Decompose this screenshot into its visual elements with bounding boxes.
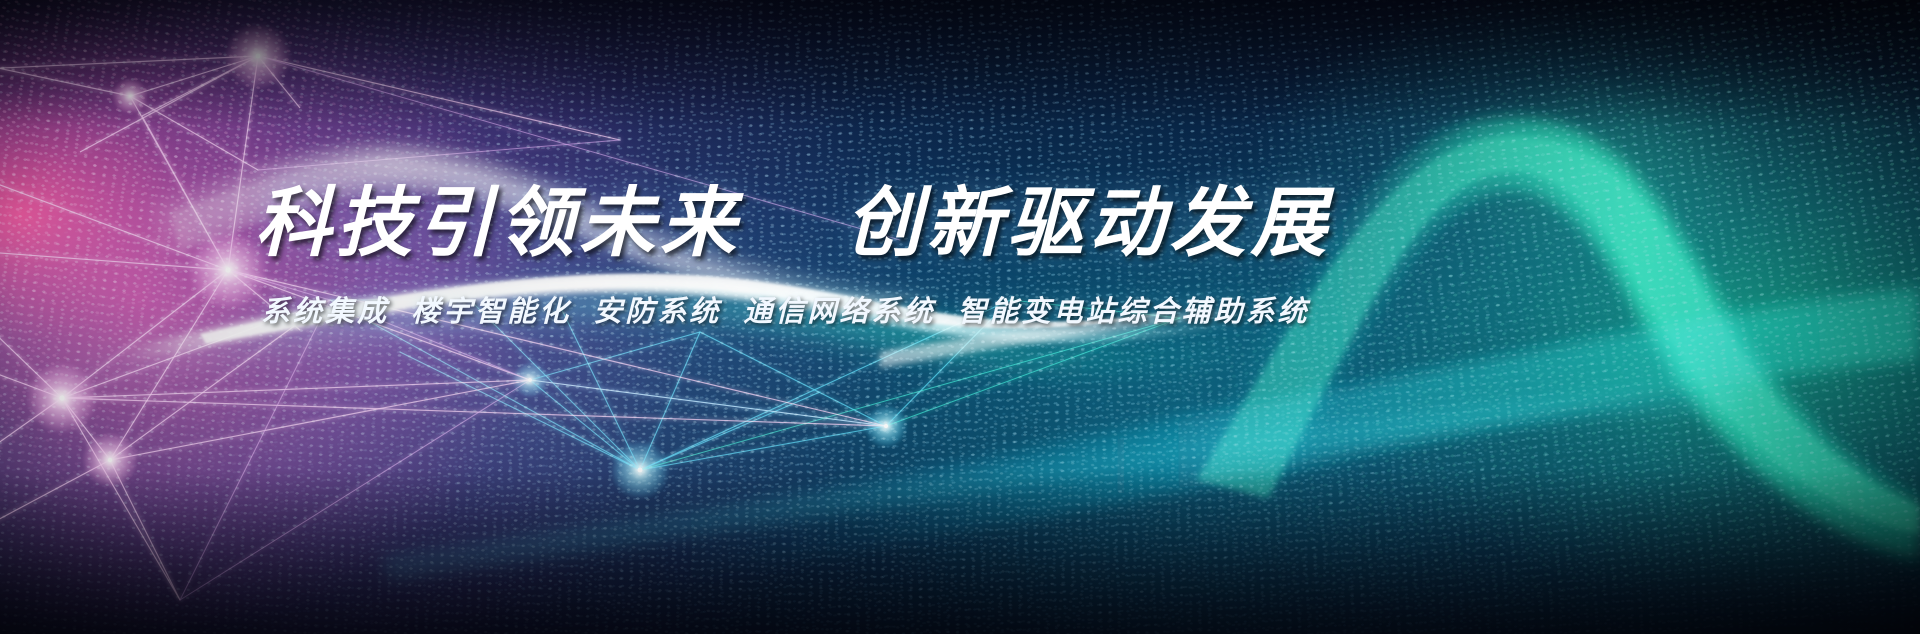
page-title: 科技引领未来 创新驱动发展 — [255, 186, 1655, 262]
hero-text-block: 科技引领未来 创新驱动发展 系统集成 楼宇智能化 安防系统 通信网络系统 智能变… — [255, 186, 1655, 330]
technology-hero-banner: 科技引领未来 创新驱动发展 系统集成 楼宇智能化 安防系统 通信网络系统 智能变… — [0, 0, 1920, 634]
page-subtitle: 系统集成 楼宇智能化 安防系统 通信网络系统 智能变电站综合辅助系统 — [261, 288, 1655, 330]
